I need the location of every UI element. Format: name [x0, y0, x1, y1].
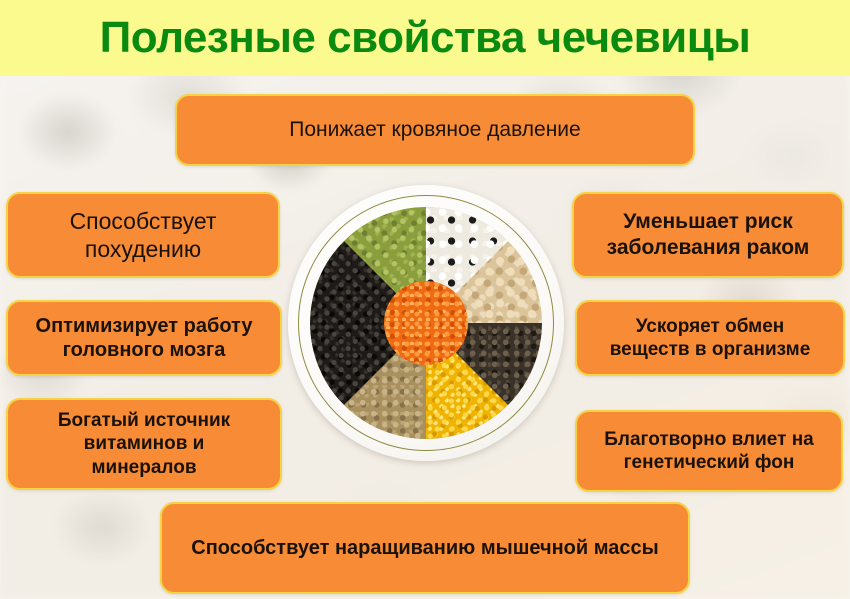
fact-box-brain-function: Оптимизирует работу головного мозга — [6, 300, 282, 376]
fact-text: Оптимизирует работу головного мозга — [36, 314, 253, 363]
fact-box-blood-pressure: Понижает кровяное давление — [175, 94, 695, 166]
page-title: Полезные свойства чечевицы — [100, 16, 751, 60]
fact-text: Понижает кровяное давление — [289, 117, 580, 143]
fact-box-cancer-risk: Уменьшает риск заболевания раком — [572, 192, 844, 278]
fact-box-weight-loss: Способствует похудению — [6, 192, 280, 278]
fact-text: Ускоряет обмен веществ в организме — [610, 315, 811, 361]
fact-box-vitamins-minerals: Богатый источник витаминов и минералов — [6, 398, 282, 490]
fact-box-genetics: Благотворно влиет на генетический фон — [575, 410, 843, 492]
fact-box-metabolism: Ускоряет обмен веществ в организме — [575, 300, 845, 376]
plate-inner-surface — [310, 207, 542, 439]
fact-text: Уменьшает риск заболевания раком — [607, 209, 810, 260]
fact-text: Богатый источник витаминов и минералов — [58, 409, 230, 479]
fact-text: Благотворно влиет на генетический фон — [604, 428, 814, 474]
title-banner: Полезные свойства чечевицы — [0, 0, 850, 76]
fact-box-muscle-mass: Способствует наращиванию мышечной массы — [160, 502, 690, 594]
plate-of-legumes-image — [288, 185, 564, 461]
fact-text: Способствует похудению — [70, 207, 217, 263]
segment-center-red-lentils — [384, 281, 468, 365]
infographic-poster: Полезные свойства чечевицы Понижает кров… — [0, 0, 850, 599]
fact-text: Способствует наращиванию мышечной массы — [191, 536, 658, 560]
